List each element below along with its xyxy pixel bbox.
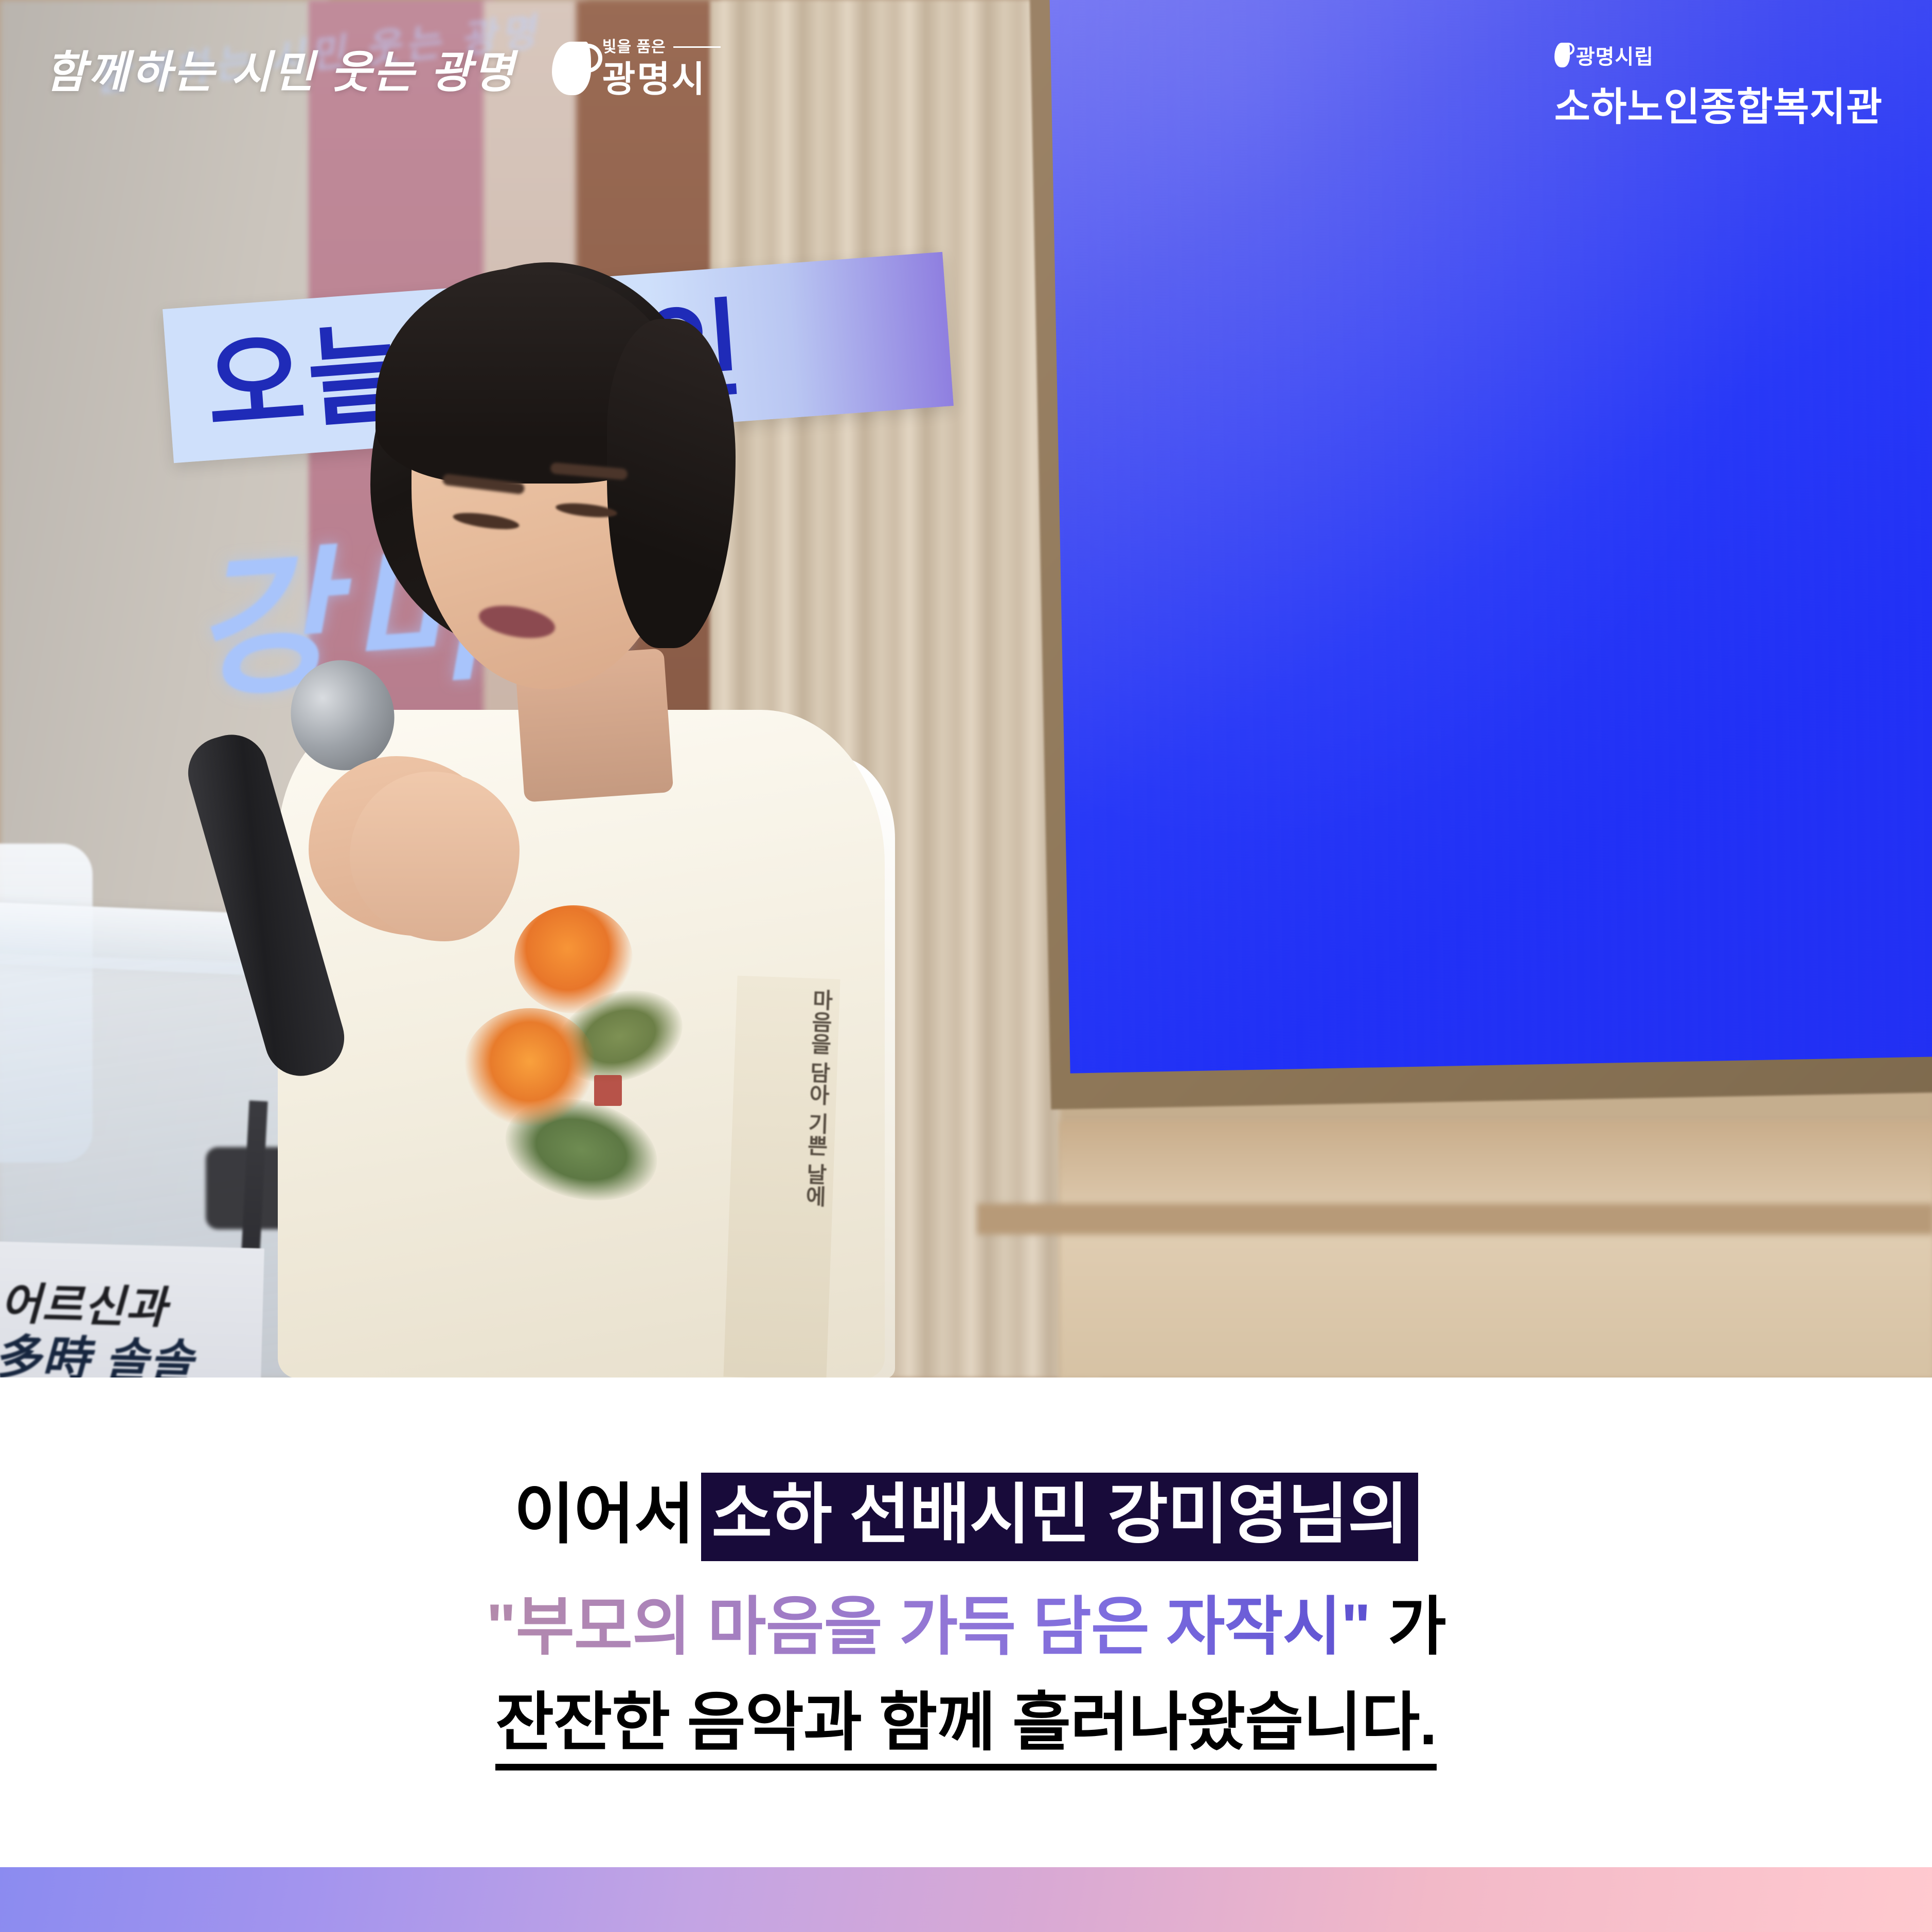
brand-logo-right: 광명시립 소하노인종합복지관	[1554, 40, 1883, 132]
caption-line-2-suffix: 가	[1370, 1591, 1446, 1662]
card-news-slide: 함께하는 시민 웃는 광명 오늘의 시인 강미영 어르신과 多時 솔솔 마음을 …	[0, 0, 1932, 1932]
caption-line-2-quoted: "부모의 마음을 가득 담은 자작시"	[486, 1591, 1370, 1662]
baseboard	[977, 1204, 1932, 1235]
caption-line-2: "부모의 마음을 가득 담은 자작시" 가	[0, 1595, 1932, 1659]
speaker-sash-text: 마음을 담아 기쁜 날에	[729, 986, 835, 1370]
podium-signage-line2: 多時 솔솔	[0, 1318, 195, 1378]
vest-embroidery-flower	[514, 905, 633, 1013]
welfare-center-name: 소하노인종합복지관	[1554, 75, 1883, 132]
bottom-gradient-bar	[0, 1867, 1932, 1932]
gwangmyeong-city-logo-texts: 빛을 품은 광명시	[602, 40, 721, 97]
city-slogan: 함께하는 시민 웃는 광명	[45, 36, 516, 100]
gwangmyeong-city-mark-icon	[552, 42, 591, 95]
projection-screen	[1049, 0, 1932, 1074]
screen-grain	[1049, 0, 1932, 1074]
caption-block: 이어서소하 선배시민 강미영님의 "부모의 마음을 가득 담은 자작시" 가 잔…	[0, 1378, 1932, 1867]
caption-line-3: 잔잔한 음악과 함께 흘러나왔습니다.	[0, 1691, 1932, 1770]
wall-lower-right	[1060, 1121, 1932, 1378]
podium-signage: 어르신과 多時 솔솔	[0, 1241, 264, 1378]
caption-line-3-text: 잔잔한 음악과 함께 흘러나왔습니다.	[495, 1691, 1437, 1770]
brand-logo-left: 함께하는 시민 웃는 광명 빛을 품은 광명시	[45, 36, 721, 100]
gwangmyeong-city-name: 광명시	[602, 61, 721, 97]
vest-embroidery-flower-2	[463, 1008, 597, 1126]
welfare-prefix-row: 광명시립	[1554, 40, 1883, 70]
soha-welfare-mark-icon	[1554, 43, 1570, 67]
caption-line-1: 이어서소하 선배시민 강미영님의	[0, 1473, 1932, 1561]
welfare-prefix: 광명시립	[1576, 40, 1654, 70]
vest-seal-stamp-2	[594, 1075, 622, 1106]
speaker-sash: 마음을 담아 기쁜 날에	[723, 976, 840, 1378]
caption-line-1-plain: 이어서	[514, 1478, 694, 1551]
tagline-rule	[673, 46, 721, 48]
gwangmyeong-city-logo: 빛을 품은 광명시	[552, 40, 721, 97]
event-photo: 함께하는 시민 웃는 광명 오늘의 시인 강미영 어르신과 多時 솔솔 마음을 …	[0, 0, 1932, 1378]
gwangmyeong-tagline-row: 빛을 품은	[602, 40, 721, 55]
caption-line-1-highlight: 소하 선배시민 강미영님의	[701, 1473, 1418, 1561]
gwangmyeong-tagline: 빛을 품은	[602, 40, 666, 55]
